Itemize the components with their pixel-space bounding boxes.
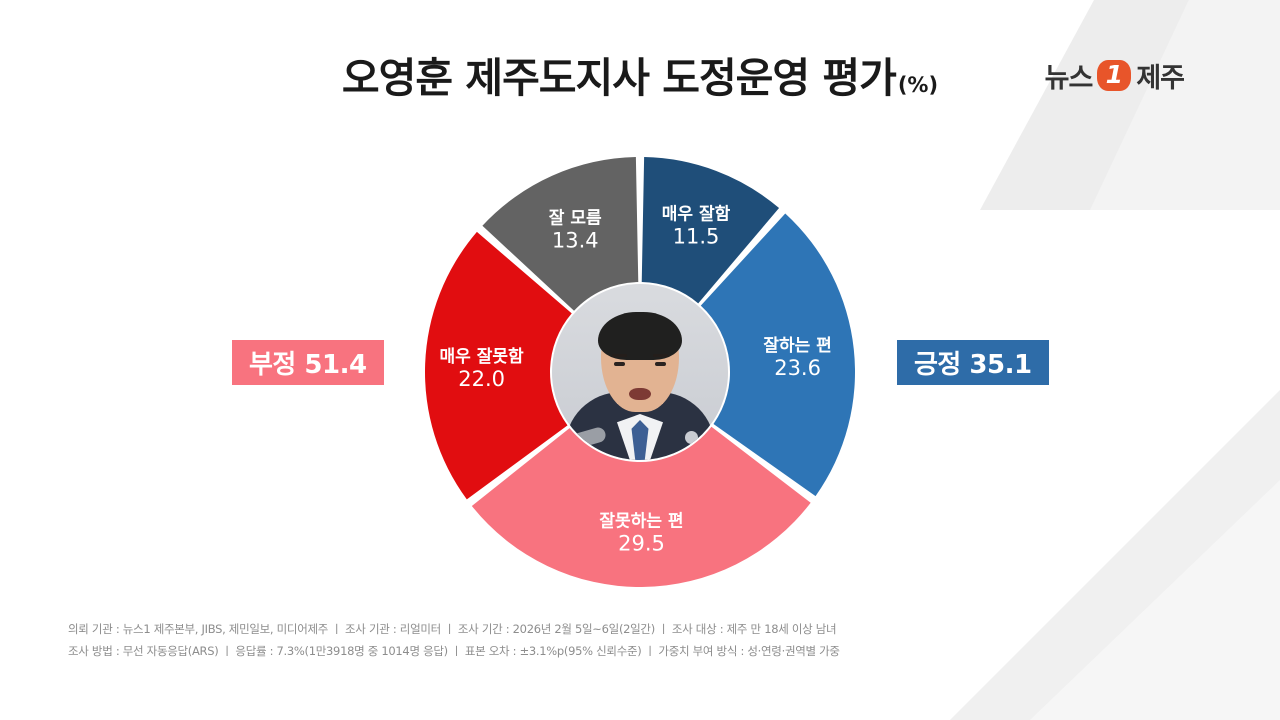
portrait-eyebrow-left <box>612 354 627 357</box>
donut-slice-value: 11.5 <box>673 225 720 249</box>
logo-right-text: 제주 <box>1136 56 1184 95</box>
donut-slice-value: 29.5 <box>618 531 665 555</box>
donut-slice-label: 잘하는 편 <box>763 335 831 356</box>
page-title-unit: (%) <box>898 73 938 97</box>
donut-slice-label: 매우 잘함 <box>662 204 731 225</box>
page-title-text: 오영훈 제주도지사 도정운영 평가 <box>342 54 896 102</box>
survey-methodology-footnotes: 의뢰 기관 : 뉴스1 제주본부, JIBS, 제민일보, 미디어제주 ㅣ 조사… <box>68 618 840 663</box>
center-portrait-photo <box>552 284 728 460</box>
decorative-band-bottom-right-2 <box>1030 480 1280 720</box>
decorative-band-top-right-2 <box>1090 0 1280 210</box>
donut-slice-value: 13.4 <box>552 228 599 252</box>
news1-jeju-logo[interactable]: 뉴스 1 제주 <box>1045 56 1184 95</box>
status-badge-negative: 부정 51.4 <box>232 340 384 385</box>
footnote-line-1: 의뢰 기관 : 뉴스1 제주본부, JIBS, 제민일보, 미디어제주 ㅣ 조사… <box>68 618 840 640</box>
logo-one-badge-icon: 1 <box>1097 60 1131 91</box>
donut-slice-label: 매우 잘못함 <box>440 346 524 367</box>
infographic-page: 오영훈 제주도지사 도정운영 평가(%) 뉴스 1 제주 매우 잘함11.5잘하… <box>0 0 1280 720</box>
donut-slice-value: 23.6 <box>774 356 821 380</box>
portrait-eye-left <box>614 362 625 366</box>
decorative-band-bottom-right-1 <box>950 390 1280 720</box>
decorative-band-top-right-1 <box>980 0 1280 210</box>
status-badge-positive: 긍정 35.1 <box>897 340 1049 385</box>
donut-slice-label: 잘 모름 <box>549 207 602 228</box>
donut-slice-value: 22.0 <box>458 367 505 391</box>
portrait-eye-right <box>655 362 666 366</box>
logo-left-text: 뉴스 <box>1045 56 1093 95</box>
portrait-eyebrow-right <box>653 354 668 357</box>
portrait-lapel-pin <box>685 431 698 444</box>
footnote-line-2: 조사 방법 : 무선 자동응답(ARS) ㅣ 응답률 : 7.3%(1만3918… <box>68 640 840 662</box>
portrait-mouth <box>629 388 651 400</box>
donut-slice-label: 잘못하는 편 <box>599 510 683 531</box>
portrait-hair <box>598 312 682 360</box>
